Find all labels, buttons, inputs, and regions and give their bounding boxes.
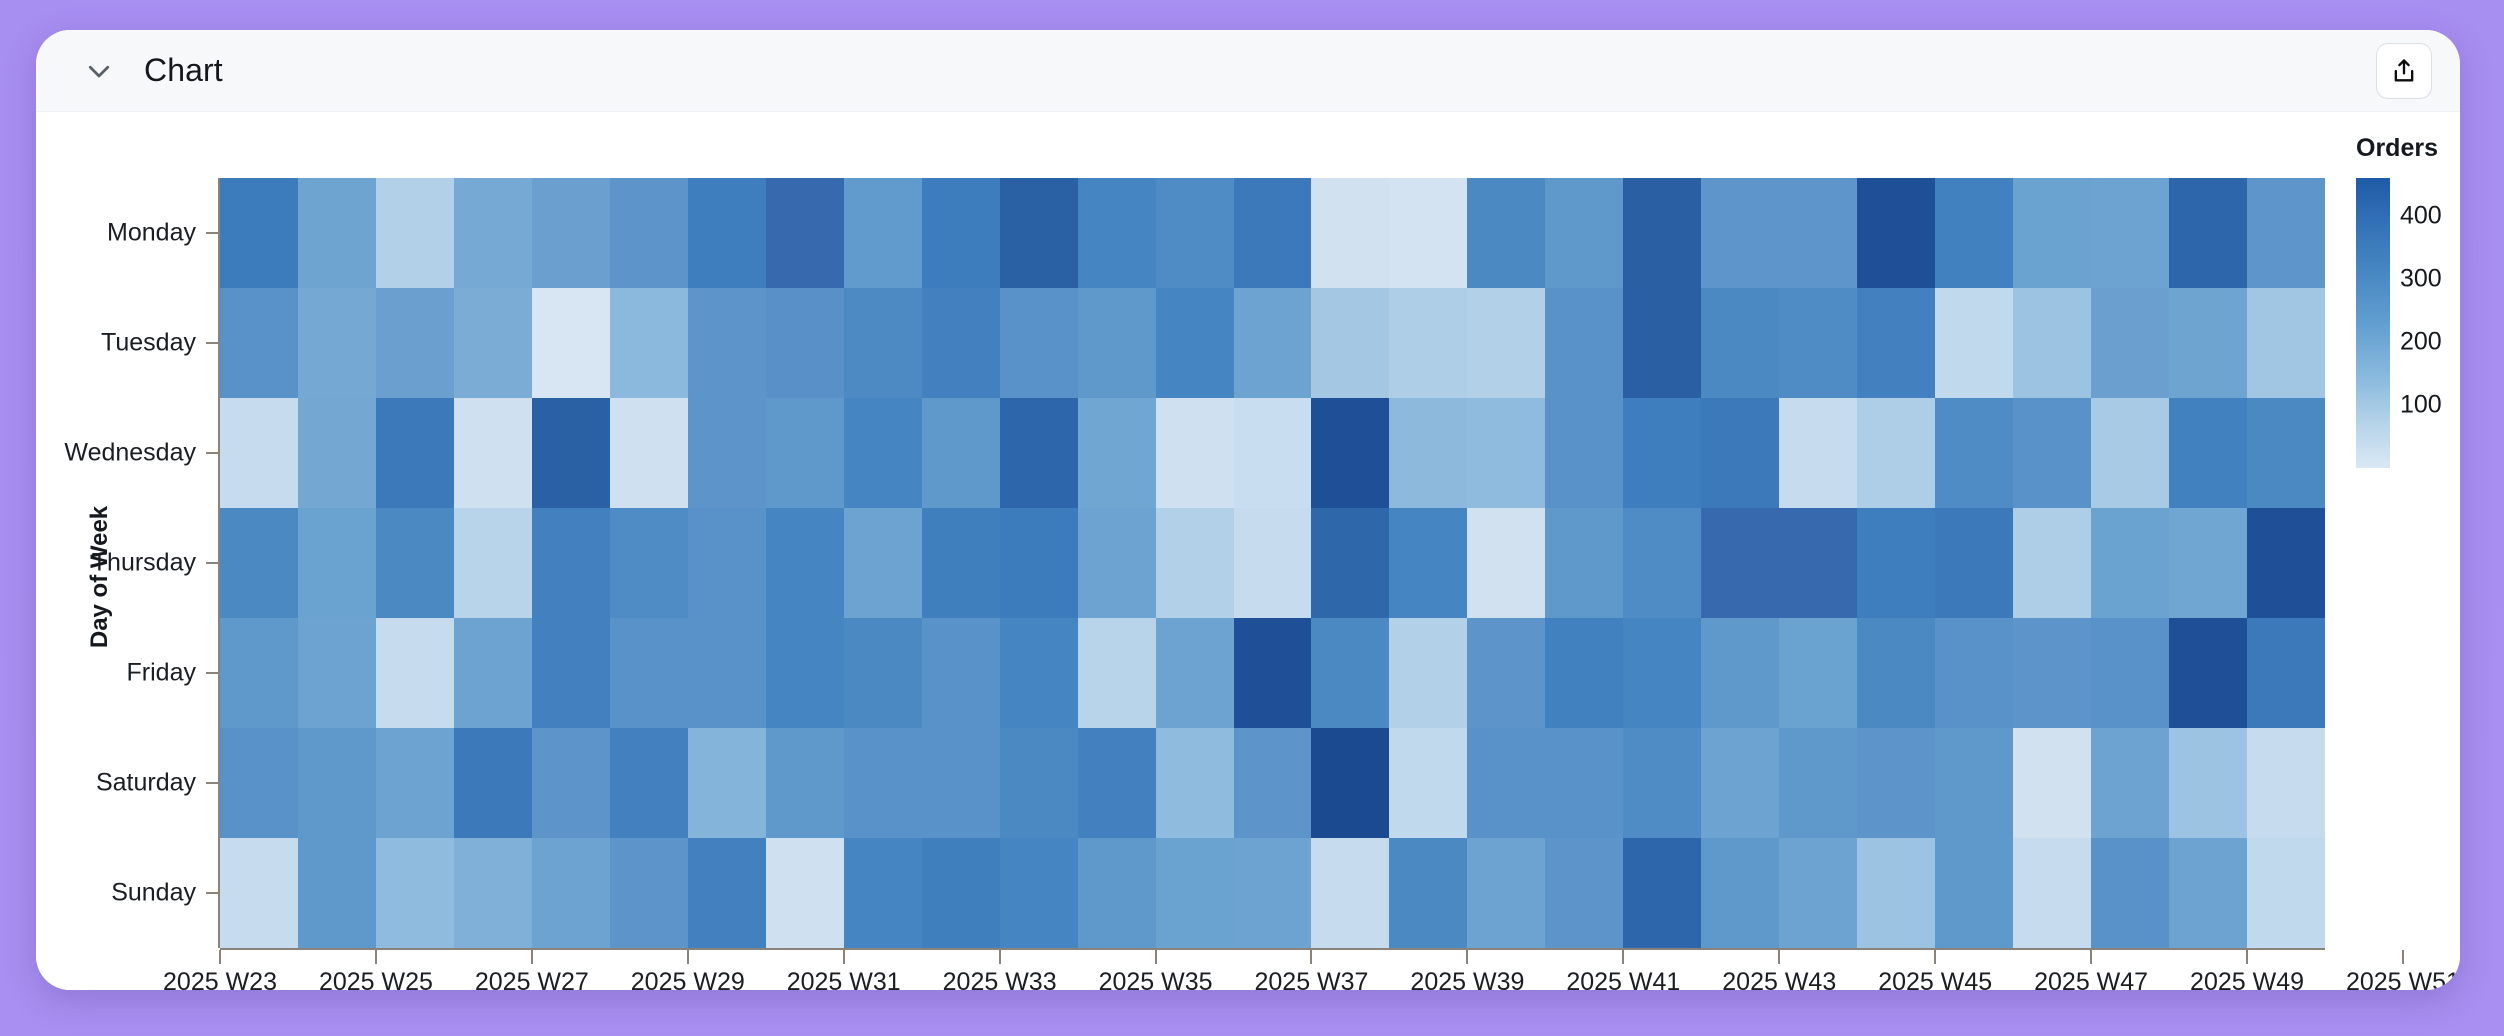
heatmap-cell[interactable] <box>1545 508 1623 618</box>
heatmap-cell[interactable] <box>2091 288 2169 398</box>
colorbar-tick-label: 100 <box>2400 390 2442 419</box>
heatmap-cell[interactable] <box>376 618 454 728</box>
heatmap-cell[interactable] <box>2013 398 2091 508</box>
heatmap-cell[interactable] <box>610 838 688 948</box>
heatmap-cell[interactable] <box>922 288 1000 398</box>
heatmap-cell[interactable] <box>610 728 688 838</box>
heatmap-cell[interactable] <box>1078 838 1156 948</box>
x-tick-mark <box>2402 950 2404 964</box>
heatmap-cell[interactable] <box>1857 288 1935 398</box>
heatmap-cell[interactable] <box>922 838 1000 948</box>
heatmap-cell[interactable] <box>1623 288 1701 398</box>
heatmap-cell[interactable] <box>220 618 298 728</box>
heatmap-cell[interactable] <box>1623 618 1701 728</box>
heatmap-cell[interactable] <box>610 508 688 618</box>
heatmap-cell[interactable] <box>922 728 1000 838</box>
heatmap-cell[interactable] <box>1935 728 2013 838</box>
heatmap-cell[interactable] <box>1545 728 1623 838</box>
heatmap-cell[interactable] <box>766 618 844 728</box>
heatmap-cell[interactable] <box>1000 398 1078 508</box>
heatmap-grid[interactable] <box>220 178 2325 948</box>
heatmap-cell[interactable] <box>844 838 922 948</box>
heatmap-cell[interactable] <box>1701 838 1779 948</box>
heatmap-cell[interactable] <box>532 398 610 508</box>
heatmap-cell[interactable] <box>532 838 610 948</box>
x-tick-label: 2025 W49 <box>2190 968 2304 990</box>
heatmap-cell[interactable] <box>2169 398 2247 508</box>
heatmap-cell[interactable] <box>1779 398 1857 508</box>
heatmap-cell[interactable] <box>1389 618 1467 728</box>
heatmap-cell[interactable] <box>2013 728 2091 838</box>
x-tick-label: 2025 W37 <box>1254 968 1368 990</box>
x-tick-mark <box>375 950 377 964</box>
heatmap-cell[interactable] <box>376 838 454 948</box>
heatmap-cell[interactable] <box>298 508 376 618</box>
y-tick-label: Monday <box>36 219 196 248</box>
heatmap-cell[interactable] <box>1857 508 1935 618</box>
heatmap-cell[interactable] <box>532 618 610 728</box>
heatmap-cell[interactable] <box>2169 508 2247 618</box>
heatmap-cell[interactable] <box>1078 178 1156 288</box>
heatmap-cell[interactable] <box>1545 288 1623 398</box>
heatmap-cell[interactable] <box>2091 398 2169 508</box>
heatmap-cell[interactable] <box>1623 398 1701 508</box>
heatmap-cell[interactable] <box>2169 178 2247 288</box>
heatmap-cell[interactable] <box>844 178 922 288</box>
colorbar-tick-label: 400 <box>2400 201 2442 230</box>
heatmap-cell[interactable] <box>220 728 298 838</box>
x-tick-mark <box>219 950 221 964</box>
heatmap-cell[interactable] <box>2247 838 2325 948</box>
x-tick-mark <box>531 950 533 964</box>
heatmap-cell[interactable] <box>454 398 532 508</box>
heatmap-cell[interactable] <box>844 618 922 728</box>
x-tick-mark <box>1310 950 1312 964</box>
heatmap-cell[interactable] <box>766 728 844 838</box>
heatmap-cell[interactable] <box>1000 618 1078 728</box>
x-tick-label: 2025 W27 <box>475 968 589 990</box>
heatmap-cell[interactable] <box>688 178 766 288</box>
y-tick-label: Tuesday <box>36 329 196 358</box>
y-tick-mark <box>206 562 220 564</box>
heatmap-cell[interactable] <box>1779 508 1857 618</box>
heatmap-cell[interactable] <box>1545 398 1623 508</box>
x-tick-label: 2025 W31 <box>787 968 901 990</box>
heatmap-cell[interactable] <box>2013 288 2091 398</box>
y-tick-mark <box>206 232 220 234</box>
heatmap-cell[interactable] <box>1156 398 1234 508</box>
heatmap-cell[interactable] <box>1467 728 1545 838</box>
x-tick-label: 2025 W39 <box>1410 968 1524 990</box>
heatmap-plot: Day of Week Week MondayTuesdayWednesdayT… <box>36 112 2460 990</box>
heatmap-cell[interactable] <box>220 178 298 288</box>
heatmap-cell[interactable] <box>1857 618 1935 728</box>
heatmap-cell[interactable] <box>1156 288 1234 398</box>
x-tick-label: 2025 W43 <box>1722 968 1836 990</box>
colorbar-tick-label: 300 <box>2400 264 2442 293</box>
heatmap-cell[interactable] <box>2247 178 2325 288</box>
heatmap-cell[interactable] <box>2247 288 2325 398</box>
heatmap-cell[interactable] <box>1156 838 1234 948</box>
heatmap-cell[interactable] <box>298 838 376 948</box>
heatmap-cell[interactable] <box>2169 728 2247 838</box>
x-tick-label: 2025 W35 <box>1099 968 1213 990</box>
heatmap-cell[interactable] <box>1623 178 1701 288</box>
heatmap-cell[interactable] <box>1156 618 1234 728</box>
heatmap-cell[interactable] <box>688 508 766 618</box>
heatmap-cell[interactable] <box>454 728 532 838</box>
heatmap-cell[interactable] <box>1935 288 2013 398</box>
heatmap-cell[interactable] <box>1545 838 1623 948</box>
heatmap-cell[interactable] <box>1701 288 1779 398</box>
heatmap-cell[interactable] <box>298 728 376 838</box>
heatmap-cell[interactable] <box>1000 508 1078 618</box>
heatmap-cell[interactable] <box>922 508 1000 618</box>
heatmap-cell[interactable] <box>766 508 844 618</box>
y-tick-label: Saturday <box>36 769 196 798</box>
x-tick-mark <box>1466 950 1468 964</box>
heatmap-cell[interactable] <box>1701 178 1779 288</box>
heatmap-cell[interactable] <box>2169 838 2247 948</box>
heatmap-cell[interactable] <box>1234 838 1312 948</box>
heatmap-cell[interactable] <box>532 508 610 618</box>
heatmap-cell[interactable] <box>1623 728 1701 838</box>
x-tick-mark <box>1934 950 1936 964</box>
heatmap-grid-wrap <box>220 178 2325 948</box>
y-tick-mark <box>206 342 220 344</box>
heatmap-cell[interactable] <box>1935 838 2013 948</box>
heatmap-cell[interactable] <box>1701 728 1779 838</box>
heatmap-cell[interactable] <box>844 288 922 398</box>
heatmap-cell[interactable] <box>1234 618 1312 728</box>
heatmap-cell[interactable] <box>2091 508 2169 618</box>
heatmap-cell[interactable] <box>376 728 454 838</box>
heatmap-cell[interactable] <box>1000 178 1078 288</box>
x-tick-label: 2025 W41 <box>1566 968 1680 990</box>
heatmap-cell[interactable] <box>1311 288 1389 398</box>
heatmap-cell[interactable] <box>1311 178 1389 288</box>
colorbar-title: Orders <box>2356 134 2438 163</box>
heatmap-cell[interactable] <box>1234 398 1312 508</box>
heatmap-cell[interactable] <box>298 618 376 728</box>
heatmap-cell[interactable] <box>844 508 922 618</box>
x-tick-label: 2025 W23 <box>163 968 277 990</box>
heatmap-cell[interactable] <box>1467 398 1545 508</box>
heatmap-cell[interactable] <box>1623 838 1701 948</box>
heatmap-cell[interactable] <box>1701 508 1779 618</box>
x-tick-mark <box>843 950 845 964</box>
heatmap-cell[interactable] <box>1467 178 1545 288</box>
heatmap-cell[interactable] <box>1078 728 1156 838</box>
heatmap-cell[interactable] <box>1078 618 1156 728</box>
heatmap-cell[interactable] <box>1935 398 2013 508</box>
heatmap-cell[interactable] <box>766 178 844 288</box>
heatmap-cell[interactable] <box>2013 178 2091 288</box>
heatmap-cell[interactable] <box>610 288 688 398</box>
heatmap-cell[interactable] <box>922 398 1000 508</box>
heatmap-cell[interactable] <box>688 618 766 728</box>
heatmap-cell[interactable] <box>766 288 844 398</box>
heatmap-cell[interactable] <box>2247 398 2325 508</box>
heatmap-cell[interactable] <box>2247 728 2325 838</box>
heatmap-cell[interactable] <box>376 178 454 288</box>
heatmap-cell[interactable] <box>688 728 766 838</box>
x-axis-line <box>220 948 2325 950</box>
heatmap-cell[interactable] <box>1234 288 1312 398</box>
heatmap-cell[interactable] <box>454 838 532 948</box>
heatmap-cell[interactable] <box>454 178 532 288</box>
heatmap-cell[interactable] <box>1467 618 1545 728</box>
colorbar-tick-label: 200 <box>2400 327 2442 356</box>
heatmap-cell[interactable] <box>454 508 532 618</box>
chart-card: Chart Day of Week Week MondayTuesdayWedn… <box>36 30 2460 990</box>
heatmap-cell[interactable] <box>1389 178 1467 288</box>
heatmap-cell[interactable] <box>1779 728 1857 838</box>
heatmap-cell[interactable] <box>1857 178 1935 288</box>
x-tick-mark <box>2090 950 2092 964</box>
heatmap-cell[interactable] <box>688 288 766 398</box>
heatmap-cell[interactable] <box>1311 398 1389 508</box>
heatmap-cell[interactable] <box>766 838 844 948</box>
heatmap-cell[interactable] <box>298 398 376 508</box>
heatmap-cell[interactable] <box>610 178 688 288</box>
y-tick-mark <box>206 782 220 784</box>
heatmap-cell[interactable] <box>922 618 1000 728</box>
x-tick-label: 2025 W51 <box>2346 968 2460 990</box>
heatmap-cell[interactable] <box>1311 508 1389 618</box>
heatmap-cell[interactable] <box>220 838 298 948</box>
y-tick-label: Wednesday <box>36 439 196 468</box>
y-tick-label: Sunday <box>36 879 196 908</box>
heatmap-cell[interactable] <box>1000 838 1078 948</box>
x-tick-mark <box>2246 950 2248 964</box>
x-tick-label: 2025 W33 <box>943 968 1057 990</box>
heatmap-cell[interactable] <box>1389 728 1467 838</box>
heatmap-cell[interactable] <box>1078 398 1156 508</box>
heatmap-cell[interactable] <box>532 728 610 838</box>
heatmap-cell[interactable] <box>1857 838 1935 948</box>
heatmap-cell[interactable] <box>1467 838 1545 948</box>
heatmap-cell[interactable] <box>1156 508 1234 618</box>
heatmap-cell[interactable] <box>532 288 610 398</box>
heatmap-cell[interactable] <box>1389 288 1467 398</box>
heatmap-cell[interactable] <box>1389 838 1467 948</box>
heatmap-cell[interactable] <box>1623 508 1701 618</box>
heatmap-cell[interactable] <box>454 288 532 398</box>
heatmap-cell[interactable] <box>1234 508 1312 618</box>
x-tick-mark <box>1155 950 1157 964</box>
heatmap-cell[interactable] <box>2013 618 2091 728</box>
heatmap-cell[interactable] <box>1000 288 1078 398</box>
heatmap-cell[interactable] <box>2091 728 2169 838</box>
heatmap-cell[interactable] <box>610 618 688 728</box>
y-tick-mark <box>206 892 220 894</box>
heatmap-cell[interactable] <box>1000 728 1078 838</box>
heatmap-cell[interactable] <box>688 838 766 948</box>
heatmap-cell[interactable] <box>1078 288 1156 398</box>
heatmap-cell[interactable] <box>2247 618 2325 728</box>
heatmap-cell[interactable] <box>1389 508 1467 618</box>
heatmap-cell[interactable] <box>1779 178 1857 288</box>
heatmap-cell[interactable] <box>766 398 844 508</box>
heatmap-cell[interactable] <box>1311 618 1389 728</box>
heatmap-cell[interactable] <box>220 508 298 618</box>
heatmap-cell[interactable] <box>298 288 376 398</box>
x-tick-label: 2025 W47 <box>2034 968 2148 990</box>
heatmap-cell[interactable] <box>220 288 298 398</box>
heatmap-cell[interactable] <box>844 398 922 508</box>
heatmap-cell[interactable] <box>2013 838 2091 948</box>
heatmap-cell[interactable] <box>1857 728 1935 838</box>
x-tick-mark <box>687 950 689 964</box>
heatmap-cell[interactable] <box>532 178 610 288</box>
x-tick-mark <box>1622 950 1624 964</box>
heatmap-cell[interactable] <box>2091 178 2169 288</box>
page-title: Chart <box>144 52 223 89</box>
heatmap-cell[interactable] <box>376 288 454 398</box>
heatmap-cell[interactable] <box>220 398 298 508</box>
heatmap-cell[interactable] <box>1935 508 2013 618</box>
x-tick-label: 2025 W29 <box>631 968 745 990</box>
heatmap-cell[interactable] <box>1701 618 1779 728</box>
heatmap-cell[interactable] <box>2013 508 2091 618</box>
y-tick-mark <box>206 672 220 674</box>
heatmap-cell[interactable] <box>1935 618 2013 728</box>
colorbar-gradient <box>2356 178 2390 468</box>
heatmap-cell[interactable] <box>1701 398 1779 508</box>
y-tick-label: Thursday <box>36 549 196 578</box>
heatmap-cell[interactable] <box>1311 838 1389 948</box>
heatmap-cell[interactable] <box>922 178 1000 288</box>
heatmap-cell[interactable] <box>1156 178 1234 288</box>
chart-card-header: Chart <box>36 30 2460 112</box>
heatmap-cell[interactable] <box>688 398 766 508</box>
heatmap-cell[interactable] <box>376 508 454 618</box>
heatmap-cell[interactable] <box>1234 728 1312 838</box>
heatmap-cell[interactable] <box>298 178 376 288</box>
export-share-icon[interactable] <box>2376 43 2432 99</box>
heatmap-cell[interactable] <box>2169 618 2247 728</box>
heatmap-cell[interactable] <box>1857 398 1935 508</box>
x-tick-mark <box>1778 950 1780 964</box>
heatmap-cell[interactable] <box>844 728 922 838</box>
heatmap-cell[interactable] <box>1935 178 2013 288</box>
heatmap-cell[interactable] <box>1311 728 1389 838</box>
heatmap-cell[interactable] <box>610 398 688 508</box>
x-tick-mark <box>999 950 1001 964</box>
heatmap-cell[interactable] <box>1389 398 1467 508</box>
x-tick-label: 2025 W45 <box>1878 968 1992 990</box>
heatmap-cell[interactable] <box>2091 618 2169 728</box>
heatmap-cell[interactable] <box>1779 838 1857 948</box>
heatmap-cell[interactable] <box>2091 838 2169 948</box>
chevron-down-icon[interactable] <box>82 54 116 88</box>
heatmap-cell[interactable] <box>1467 508 1545 618</box>
y-tick-mark <box>206 452 220 454</box>
x-tick-label: 2025 W25 <box>319 968 433 990</box>
heatmap-cell[interactable] <box>376 398 454 508</box>
heatmap-cell[interactable] <box>1234 178 1312 288</box>
y-tick-label: Friday <box>36 659 196 688</box>
heatmap-cell[interactable] <box>1467 288 1545 398</box>
heatmap-cell[interactable] <box>2247 508 2325 618</box>
heatmap-cell[interactable] <box>1779 618 1857 728</box>
heatmap-cell[interactable] <box>1156 728 1234 838</box>
app-root: Chart Day of Week Week MondayTuesdayWedn… <box>0 0 2504 1036</box>
heatmap-cell[interactable] <box>454 618 532 728</box>
heatmap-cell[interactable] <box>1779 288 1857 398</box>
heatmap-cell[interactable] <box>2169 288 2247 398</box>
heatmap-cell[interactable] <box>1545 178 1623 288</box>
heatmap-cell[interactable] <box>1078 508 1156 618</box>
heatmap-cell[interactable] <box>1545 618 1623 728</box>
